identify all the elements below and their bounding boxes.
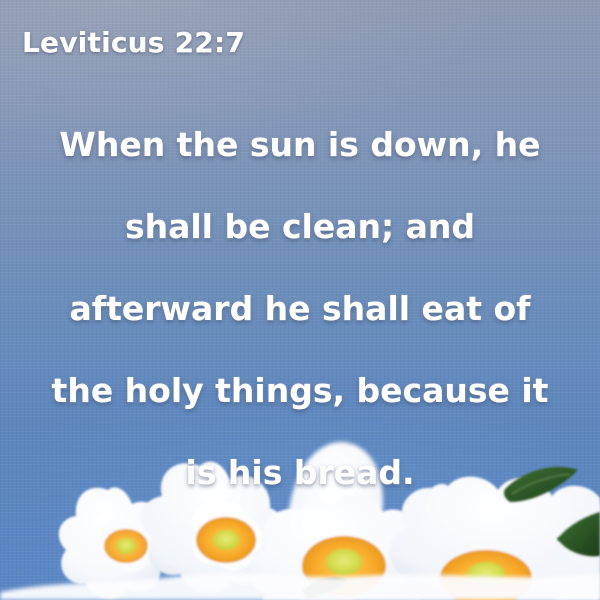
verse-text-block: When the sun is down, he shall be clean;… xyxy=(0,104,600,514)
verse-line: the holy things, because it xyxy=(18,350,582,432)
verse-line: afterward he shall eat of xyxy=(18,268,582,350)
verse-image: Leviticus 22:7 When the sun is down, he … xyxy=(0,0,600,600)
verse-line: shall be clean; and xyxy=(18,186,582,268)
verse-line: When the sun is down, he xyxy=(18,104,582,186)
verse-line: is his bread. xyxy=(18,432,582,514)
verse-reference: Leviticus 22:7 xyxy=(22,26,245,59)
